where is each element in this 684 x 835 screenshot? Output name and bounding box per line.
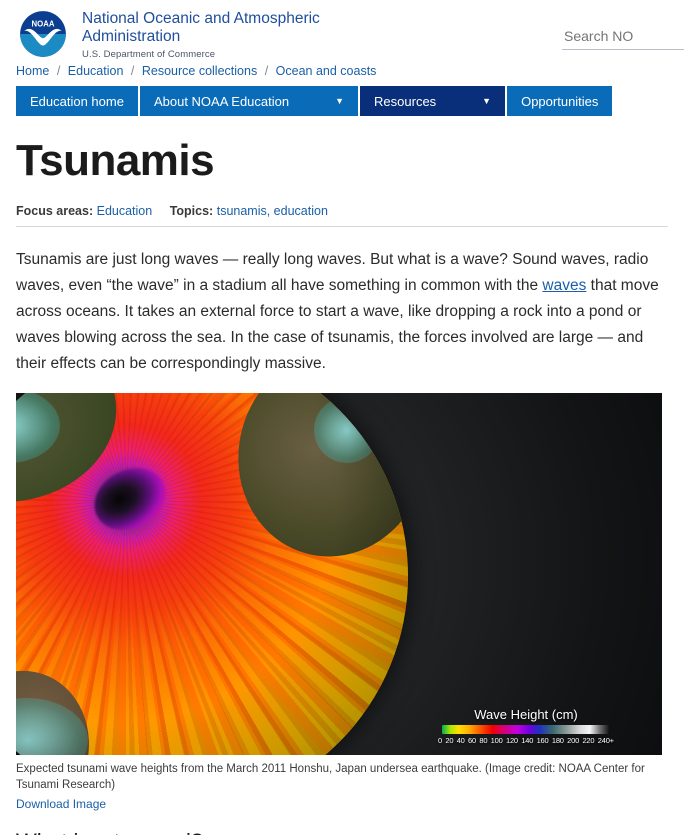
nav-item-education-home[interactable]: Education home — [16, 86, 140, 116]
noaa-logo-text: NOAA — [32, 20, 55, 29]
agency-department: U.S. Department of Commerce — [82, 49, 332, 60]
nav-item-label: Opportunities — [521, 94, 598, 109]
site-masthead: NOAA National Oceanic and Atmospheric Ad… — [0, 0, 684, 62]
download-image-link[interactable]: Download Image — [16, 796, 106, 812]
agency-name: National Oceanic and Atmospheric Adminis… — [82, 10, 332, 46]
site-search[interactable] — [562, 26, 684, 50]
legend-tick: 40 — [457, 736, 465, 745]
legend-tick: 120 — [506, 736, 518, 745]
globe-limb-shading — [16, 393, 408, 755]
focus-areas-label: Focus areas: — [16, 204, 93, 218]
breadcrumb-item-ocean-and-coasts[interactable]: Ocean and coasts — [276, 64, 377, 78]
nav-item-opportunities[interactable]: Opportunities — [507, 86, 614, 116]
figure-caption: Expected tsunami wave heights from the M… — [16, 761, 656, 813]
breadcrumb-item-education[interactable]: Education — [68, 64, 124, 78]
legend-tick: 80 — [479, 736, 487, 745]
breadcrumb: Home / Education / Resource collections … — [0, 62, 684, 84]
noaa-logo[interactable]: NOAA — [14, 8, 72, 60]
breadcrumb-separator: / — [265, 64, 268, 78]
agency-identity: National Oceanic and Atmospheric Adminis… — [82, 8, 332, 60]
topics-label: Topics: — [170, 204, 214, 218]
waves-link[interactable]: waves — [542, 277, 586, 294]
nav-item-about-noaa-education[interactable]: About NOAA Education ▼ — [140, 86, 360, 116]
primary-navigation: Education home About NOAA Education ▼ Re… — [16, 86, 684, 116]
section-heading-what-is-a-tsunami: What is a tsunami? — [16, 829, 668, 835]
breadcrumb-separator: / — [57, 64, 60, 78]
search-input[interactable] — [562, 26, 684, 50]
legend-colorbar — [442, 725, 610, 734]
intro-paragraph: Tsunamis are just long waves — really lo… — [16, 247, 668, 377]
page-content: Tsunamis Focus areas: Education Topics: … — [0, 136, 684, 835]
breadcrumb-item-home[interactable]: Home — [16, 64, 49, 78]
topics-link[interactable]: tsunamis, education — [217, 204, 328, 218]
page-title: Tsunamis — [16, 136, 668, 186]
chevron-down-icon: ▼ — [482, 97, 491, 106]
legend-tick: 220 — [582, 736, 594, 745]
page-meta: Focus areas: Education Topics: tsunamis,… — [16, 204, 668, 227]
nav-item-label: Education home — [30, 94, 124, 109]
breadcrumb-separator: / — [131, 64, 134, 78]
legend-tick-labels: 0 20 40 60 80 100 120 140 160 180 200 22… — [438, 736, 614, 745]
legend-tick: 200 — [567, 736, 579, 745]
legend-tick: 140 — [521, 736, 533, 745]
tsunami-wave-height-image[interactable]: Wave Height (cm) 0 20 40 60 80 100 120 1… — [16, 393, 662, 755]
nav-item-label: Resources — [374, 94, 436, 109]
globe-visualization — [16, 393, 408, 755]
chevron-down-icon: ▼ — [335, 97, 344, 106]
legend-tick: 20 — [445, 736, 453, 745]
legend-title: Wave Height (cm) — [436, 707, 616, 722]
nav-item-label: About NOAA Education — [154, 94, 289, 109]
nav-item-resources[interactable]: Resources ▼ — [360, 86, 507, 116]
wave-height-legend: Wave Height (cm) 0 20 40 60 80 100 120 1… — [436, 707, 616, 745]
legend-tick: 180 — [552, 736, 564, 745]
focus-area-link[interactable]: Education — [97, 204, 153, 218]
legend-tick: 160 — [537, 736, 549, 745]
breadcrumb-item-resource-collections[interactable]: Resource collections — [142, 64, 257, 78]
legend-tick: 60 — [468, 736, 476, 745]
legend-tick: 0 — [438, 736, 442, 745]
figure-caption-text: Expected tsunami wave heights from the M… — [16, 763, 645, 791]
legend-tick: 240+ — [598, 736, 614, 745]
tsunami-figure: Wave Height (cm) 0 20 40 60 80 100 120 1… — [16, 393, 668, 813]
legend-tick: 100 — [491, 736, 503, 745]
